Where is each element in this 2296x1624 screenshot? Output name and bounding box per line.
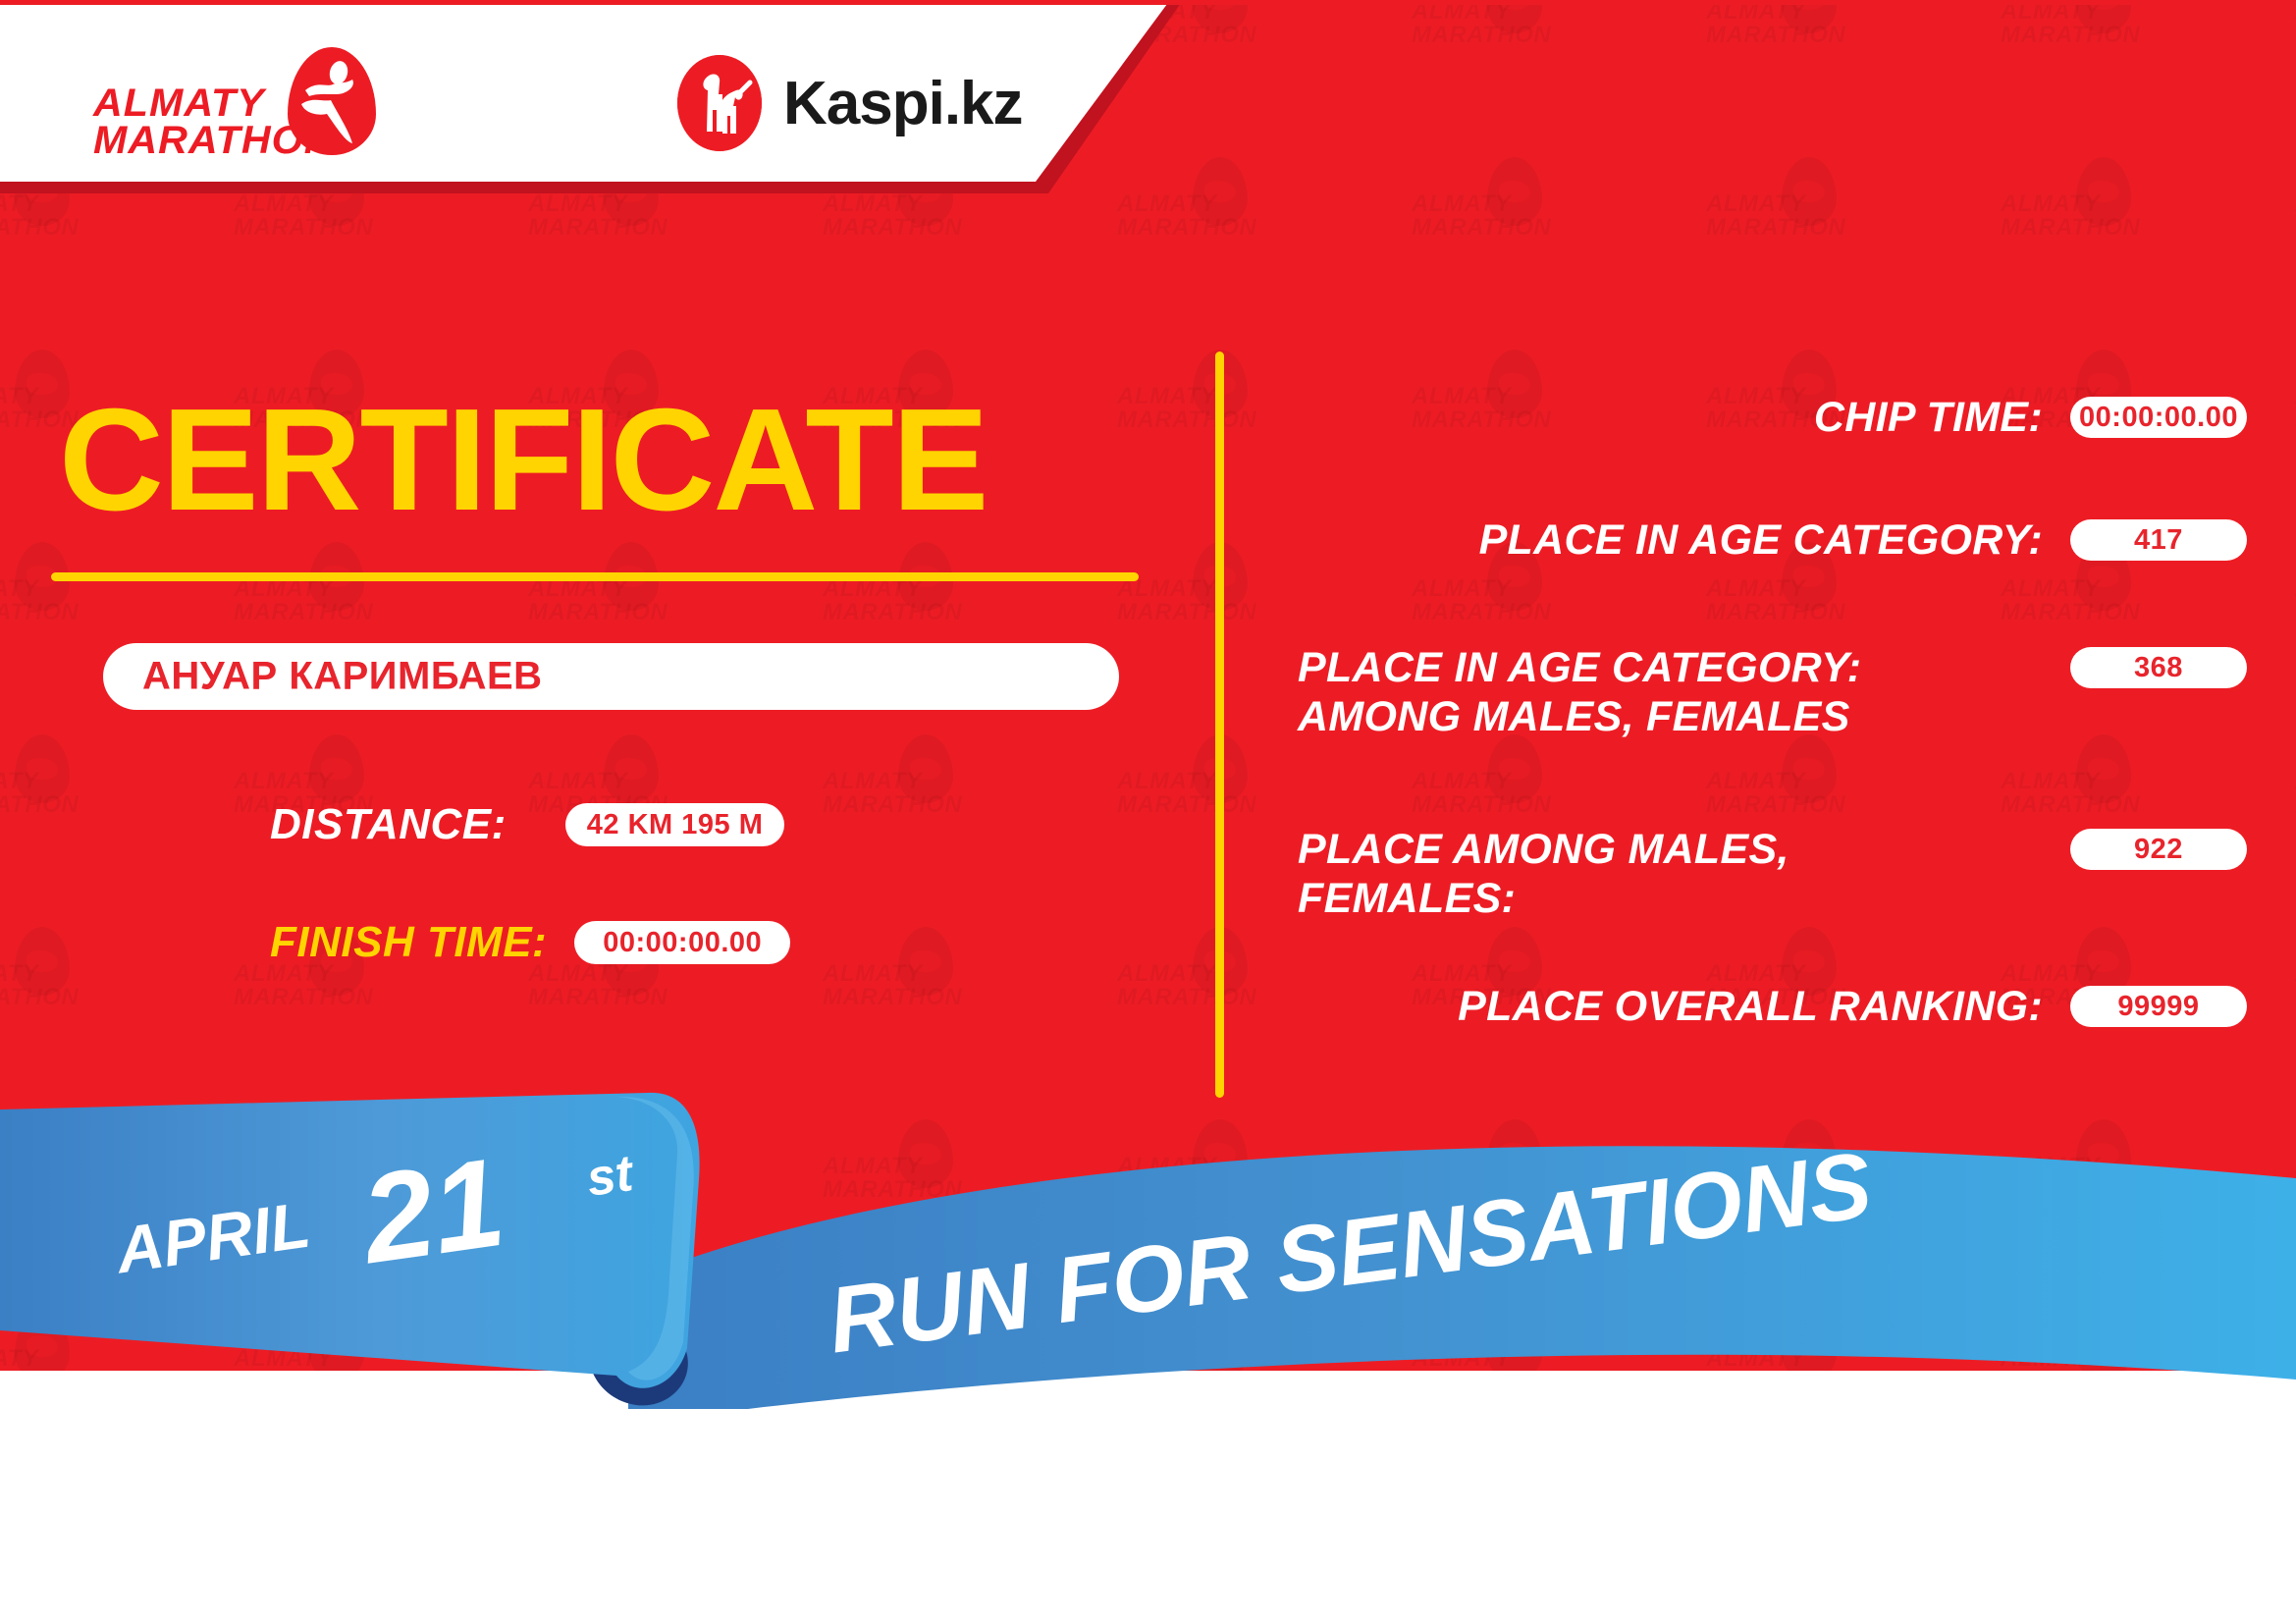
place-age-category-gender-value: 368 bbox=[2134, 652, 2183, 684]
athlete-name-field[interactable]: АНУАР КАРИМБАЕВ bbox=[103, 643, 1119, 710]
kaspi-logo: Kaspi.kz bbox=[677, 54, 1023, 152]
ribbon-day-suffix: st bbox=[583, 1144, 636, 1209]
place-among-gender-label: PLACE AMONG MALES, FEMALES: bbox=[1256, 825, 2070, 923]
chip-time-value-pill: 00:00:00.00 bbox=[2070, 397, 2247, 438]
finish-time-value-pill: 00:00:00.00 bbox=[574, 921, 790, 964]
title-underline bbox=[51, 572, 1139, 581]
finish-time-row: FINISH TIME: 00:00:00.00 bbox=[270, 918, 790, 967]
distance-label: DISTANCE: bbox=[270, 800, 507, 849]
certificate-page: ALMATYMARATHONALMATYMARATHONALMATYMARATH… bbox=[0, 0, 2296, 1624]
place-age-category-label: PLACE IN AGE CATEGORY: bbox=[1256, 515, 2070, 565]
finish-time-label: FINISH TIME: bbox=[270, 918, 547, 967]
kaspi-figures-icon bbox=[677, 55, 762, 151]
almaty-marathon-wordmark: ALMATY MARATHON bbox=[93, 84, 334, 159]
label-line-1: PLACE IN AGE CATEGORY: bbox=[1298, 643, 2043, 692]
chip-time-value: 00:00:00.00 bbox=[2079, 402, 2238, 434]
kaspi-wordmark: Kaspi.kz bbox=[783, 69, 1023, 138]
athlete-name-value: АНУАР КАРИМБАЕВ bbox=[142, 655, 543, 699]
result-row-place-overall: PLACE OVERALL RANKING: 99999 bbox=[1256, 982, 2296, 1031]
logo-line-marathon: MARATHON bbox=[93, 122, 334, 159]
label-line-2: AMONG MALES, FEMALES bbox=[1298, 692, 2043, 741]
top-red-hairline bbox=[0, 0, 2296, 5]
label-line-1: PLACE AMONG MALES, bbox=[1298, 825, 2043, 874]
place-among-gender-value-pill: 922 bbox=[2070, 829, 2247, 870]
sponsor-strip bbox=[0, 1410, 2296, 1624]
distance-value: 42 KM 195 M bbox=[587, 809, 764, 841]
result-row-place-age-category-gender: PLACE IN AGE CATEGORY: AMONG MALES, FEMA… bbox=[1256, 643, 2296, 741]
label-line-2: FEMALES: bbox=[1298, 874, 2043, 923]
place-overall-label: PLACE OVERALL RANKING: bbox=[1256, 982, 2070, 1031]
page-title: CERTIFICATE bbox=[59, 388, 987, 533]
result-row-place-age-category: PLACE IN AGE CATEGORY: 417 bbox=[1256, 515, 2296, 565]
distance-row: DISTANCE: 42 KM 195 M bbox=[270, 800, 784, 849]
result-row-place-among-gender: PLACE AMONG MALES, FEMALES: 922 bbox=[1256, 825, 2296, 923]
place-age-category-value: 417 bbox=[2134, 524, 2183, 557]
place-overall-value-pill: 99999 bbox=[2070, 986, 2247, 1027]
place-age-category-gender-label: PLACE IN AGE CATEGORY: AMONG MALES, FEMA… bbox=[1256, 643, 2070, 741]
finish-time-value: 00:00:00.00 bbox=[603, 927, 762, 959]
place-age-category-value-pill: 417 bbox=[2070, 519, 2247, 561]
chip-time-label: CHIP TIME: bbox=[1256, 393, 2070, 442]
ribbon-day: 21 bbox=[353, 1130, 511, 1292]
distance-value-pill: 42 KM 195 M bbox=[565, 803, 785, 846]
place-age-category-gender-value-pill: 368 bbox=[2070, 647, 2247, 688]
place-among-gender-value: 922 bbox=[2134, 834, 2183, 866]
place-overall-value: 99999 bbox=[2117, 991, 2199, 1023]
logo-line-almaty: ALMATY bbox=[93, 84, 334, 122]
almaty-marathon-logo: ALMATY MARATHON bbox=[93, 47, 417, 160]
result-row-chip-time: CHIP TIME: 00:00:00.00 bbox=[1256, 393, 2296, 442]
vertical-divider bbox=[1215, 352, 1224, 1098]
